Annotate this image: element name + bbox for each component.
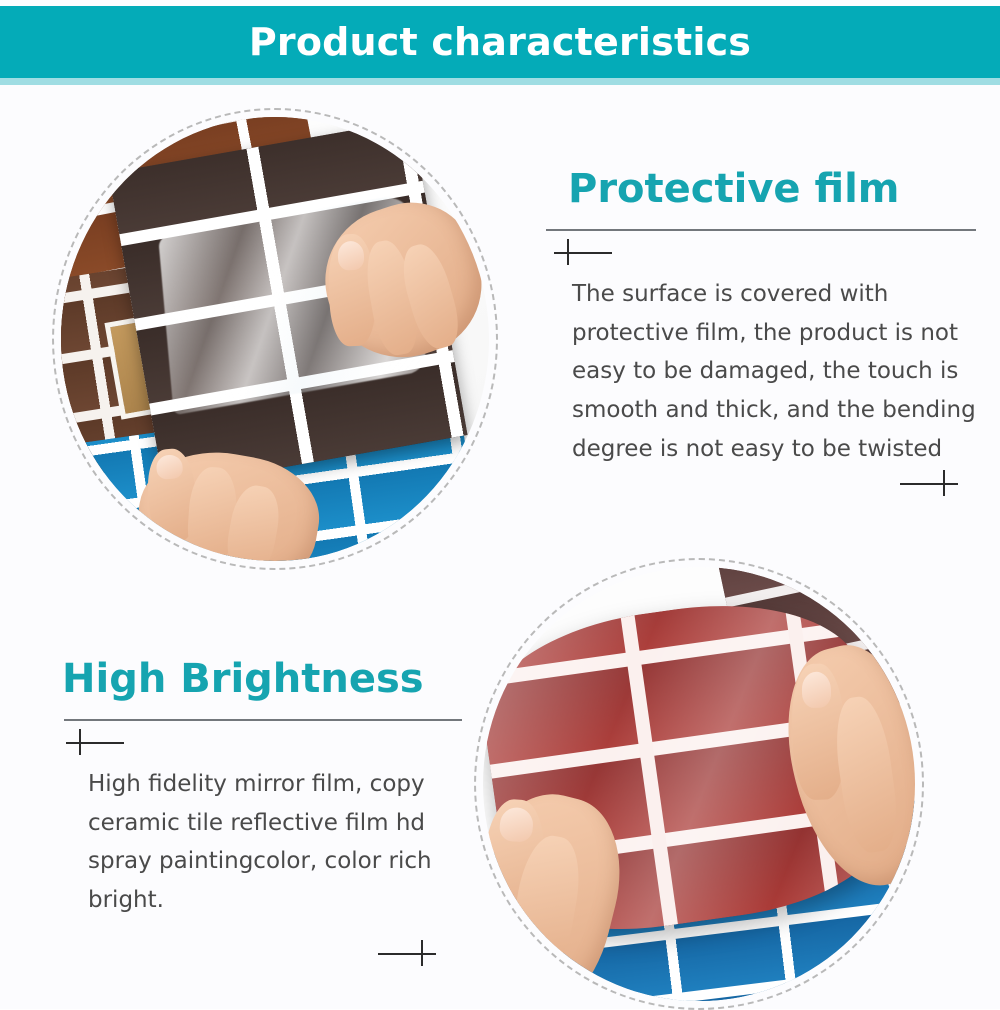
photo-scene-bending-tile-sheet <box>483 567 915 1001</box>
cross-accent-vertical <box>943 470 945 496</box>
cross-accent-horizontal <box>378 953 436 955</box>
protective-film-body-text: The surface is covered with protective f… <box>540 275 976 468</box>
cross-accent-icon-protective-end <box>900 470 958 496</box>
high-brightness-section: High Brightness High fidelity mirror fil… <box>58 658 456 920</box>
cross-accent-icon-brightness-end <box>378 940 436 966</box>
protective-film-heading: Protective film <box>540 168 976 211</box>
fingernail <box>156 454 184 480</box>
high-brightness-divider <box>64 719 462 721</box>
header-banner: Product characteristics <box>0 6 1000 78</box>
high-brightness-heading: High Brightness <box>58 658 456 701</box>
fingernail <box>498 806 533 842</box>
photo-scene-peeling-film <box>61 117 489 561</box>
fingernail <box>801 671 831 707</box>
protective-film-photo-inner <box>61 117 489 561</box>
high-brightness-photo-inner <box>483 567 915 1001</box>
cross-accent-vertical <box>79 729 81 755</box>
protective-film-photo <box>52 108 498 570</box>
high-brightness-body-text: High fidelity mirror film, copy ceramic … <box>58 765 456 920</box>
cross-accent-icon <box>554 239 612 265</box>
page-title: Product characteristics <box>249 20 751 64</box>
cross-accent-vertical <box>421 940 423 966</box>
high-brightness-photo <box>474 558 924 1010</box>
finger <box>830 694 903 855</box>
cross-accent-horizontal <box>900 483 958 485</box>
protective-film-divider <box>546 229 976 231</box>
cross-accent-horizontal <box>554 252 612 254</box>
fingernail <box>338 240 365 270</box>
cross-accent-horizontal <box>66 742 124 744</box>
product-characteristics-infographic: Product characteristics <box>0 0 1000 1009</box>
cross-accent-icon <box>66 729 124 755</box>
header-banner-underline <box>0 78 1000 85</box>
protective-film-section: Protective film The surface is covered w… <box>540 168 976 468</box>
cross-accent-vertical <box>567 239 569 265</box>
